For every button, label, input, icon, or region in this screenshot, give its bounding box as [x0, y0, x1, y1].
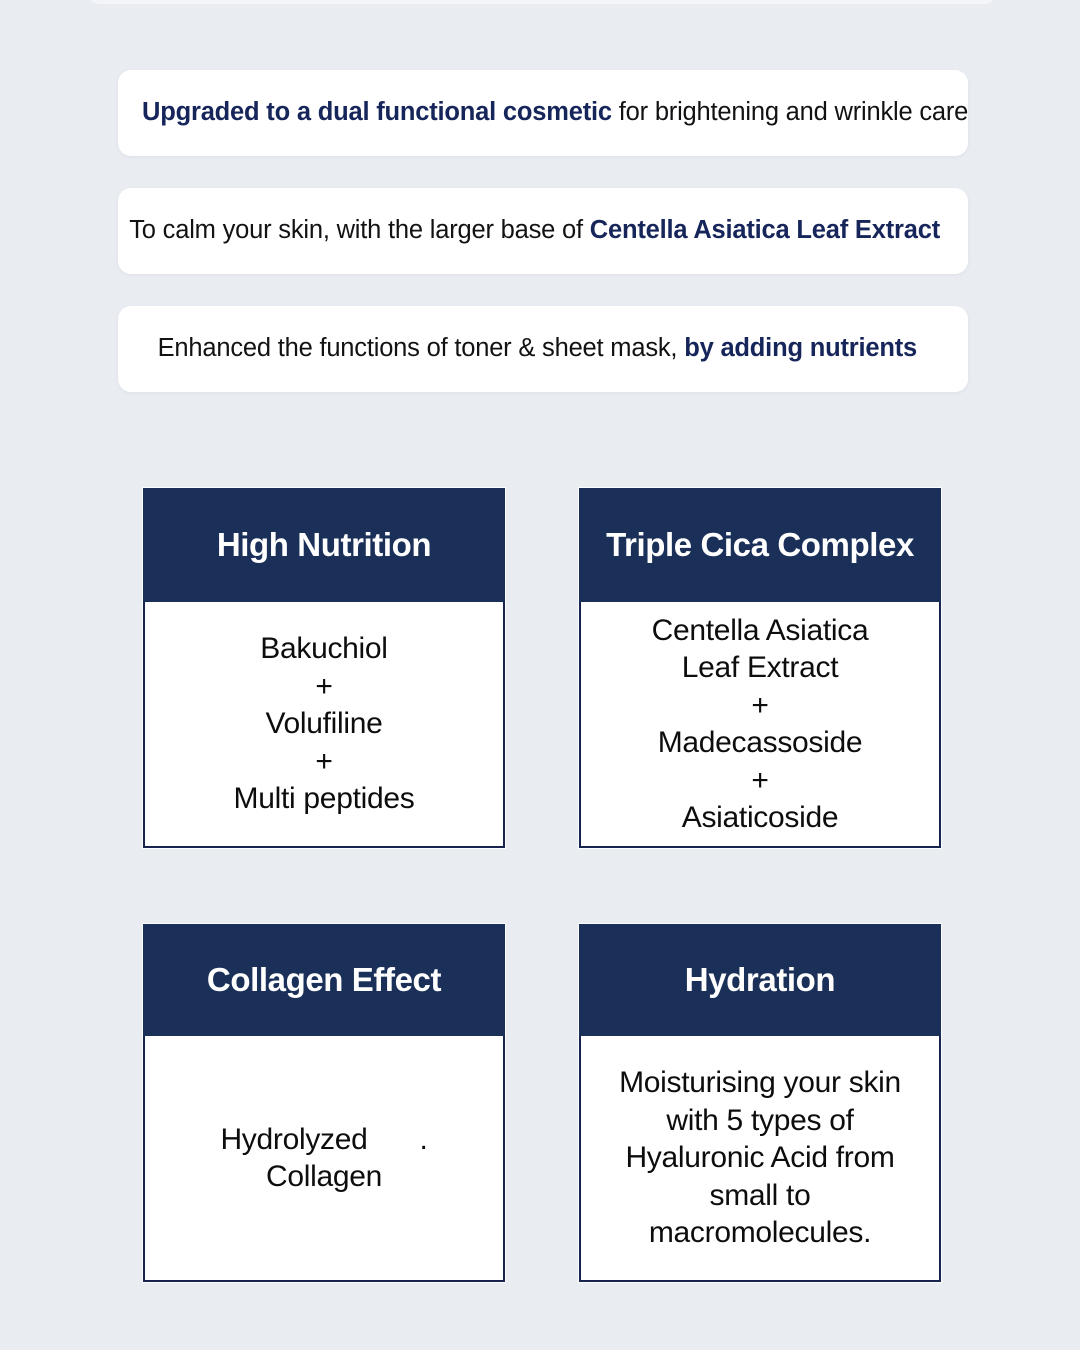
banner-plain-text: To calm your skin, with the larger base … [129, 216, 590, 244]
banner-accent-trail: Centella Asiatica Leaf Extract [590, 216, 940, 244]
card-body-line: macromolecules. [619, 1214, 901, 1252]
banner-accent-trail: by adding nutrients [684, 334, 917, 362]
card-title-hydration: Hydration [579, 924, 941, 1036]
card-title-collagen-effect: Collagen Effect [143, 924, 505, 1036]
benefit-banner-centella-asiatica-base: To calm your skin, with the larger base … [118, 188, 968, 274]
card-body-high-nutrition: Bakuchiol + Volufiline + Multi peptides [143, 602, 505, 848]
banner-accent-lead: Upgraded to a dual functional cosmetic [142, 98, 612, 126]
card-body-line: Centella Asiatica [652, 612, 869, 650]
previous-card-sliver [88, 0, 996, 4]
benefit-banner-added-nutrients: Enhanced the functions of toner & sheet … [118, 306, 968, 392]
card-body-line: + [652, 762, 869, 800]
card-body-line: Volufiline [234, 705, 415, 743]
card-body-line: Hyaluronic Acid from [619, 1139, 901, 1177]
ingredient-card-grid: High Nutrition Bakuchiol + Volufiline + … [143, 488, 941, 1282]
card-body-triple-cica-complex: Centella Asiatica Leaf Extract + Madecas… [579, 602, 941, 848]
banner-text: To calm your skin, with the larger base … [118, 215, 968, 247]
card-body-line: Madecassoside [652, 724, 869, 762]
card-body-line: Bakuchiol [234, 630, 415, 668]
ingredient-card-triple-cica-complex: Triple Cica Complex Centella Asiatica Le… [579, 488, 941, 848]
card-title-high-nutrition: High Nutrition [143, 488, 505, 602]
card-body-trailing-dot: . [420, 1121, 428, 1159]
product-feature-page: Upgraded to a dual functional cosmetic f… [0, 0, 1080, 1350]
card-body-line: Collagen [266, 1160, 382, 1193]
banner-text: Enhanced the functions of toner & sheet … [118, 333, 968, 365]
card-body-line: + [234, 668, 415, 706]
benefit-banner-dual-functional-cosmetic: Upgraded to a dual functional cosmetic f… [118, 70, 968, 156]
card-body-line: Multi peptides [234, 780, 415, 818]
card-body-line: Leaf Extract [652, 649, 869, 687]
card-body-line: Asiaticoside [652, 799, 869, 837]
card-body-line: Moisturising your skin [619, 1064, 901, 1102]
banner-text: Upgraded to a dual functional cosmetic f… [118, 97, 968, 129]
ingredient-card-collagen-effect: Collagen Effect Hydrolyzed. Collagen [143, 924, 505, 1282]
card-body-collagen-effect: Hydrolyzed. Collagen [143, 1036, 505, 1282]
card-body-line: with 5 types of [619, 1102, 901, 1140]
card-body-line: + [234, 743, 415, 781]
ingredient-card-high-nutrition: High Nutrition Bakuchiol + Volufiline + … [143, 488, 505, 848]
benefit-banner-list: Upgraded to a dual functional cosmetic f… [118, 70, 968, 424]
banner-plain-text: Enhanced the functions of toner & sheet … [158, 334, 685, 362]
card-body-line: + [652, 687, 869, 725]
card-body-line: small to [619, 1177, 901, 1215]
ingredient-card-hydration: Hydration Moisturising your skin with 5 … [579, 924, 941, 1282]
card-title-triple-cica-complex: Triple Cica Complex [579, 488, 941, 602]
card-body-line: Hydrolyzed [220, 1123, 367, 1156]
banner-plain-text: for brightening and wrinkle care [612, 98, 968, 126]
card-body-hydration: Moisturising your skin with 5 types of H… [579, 1036, 941, 1282]
